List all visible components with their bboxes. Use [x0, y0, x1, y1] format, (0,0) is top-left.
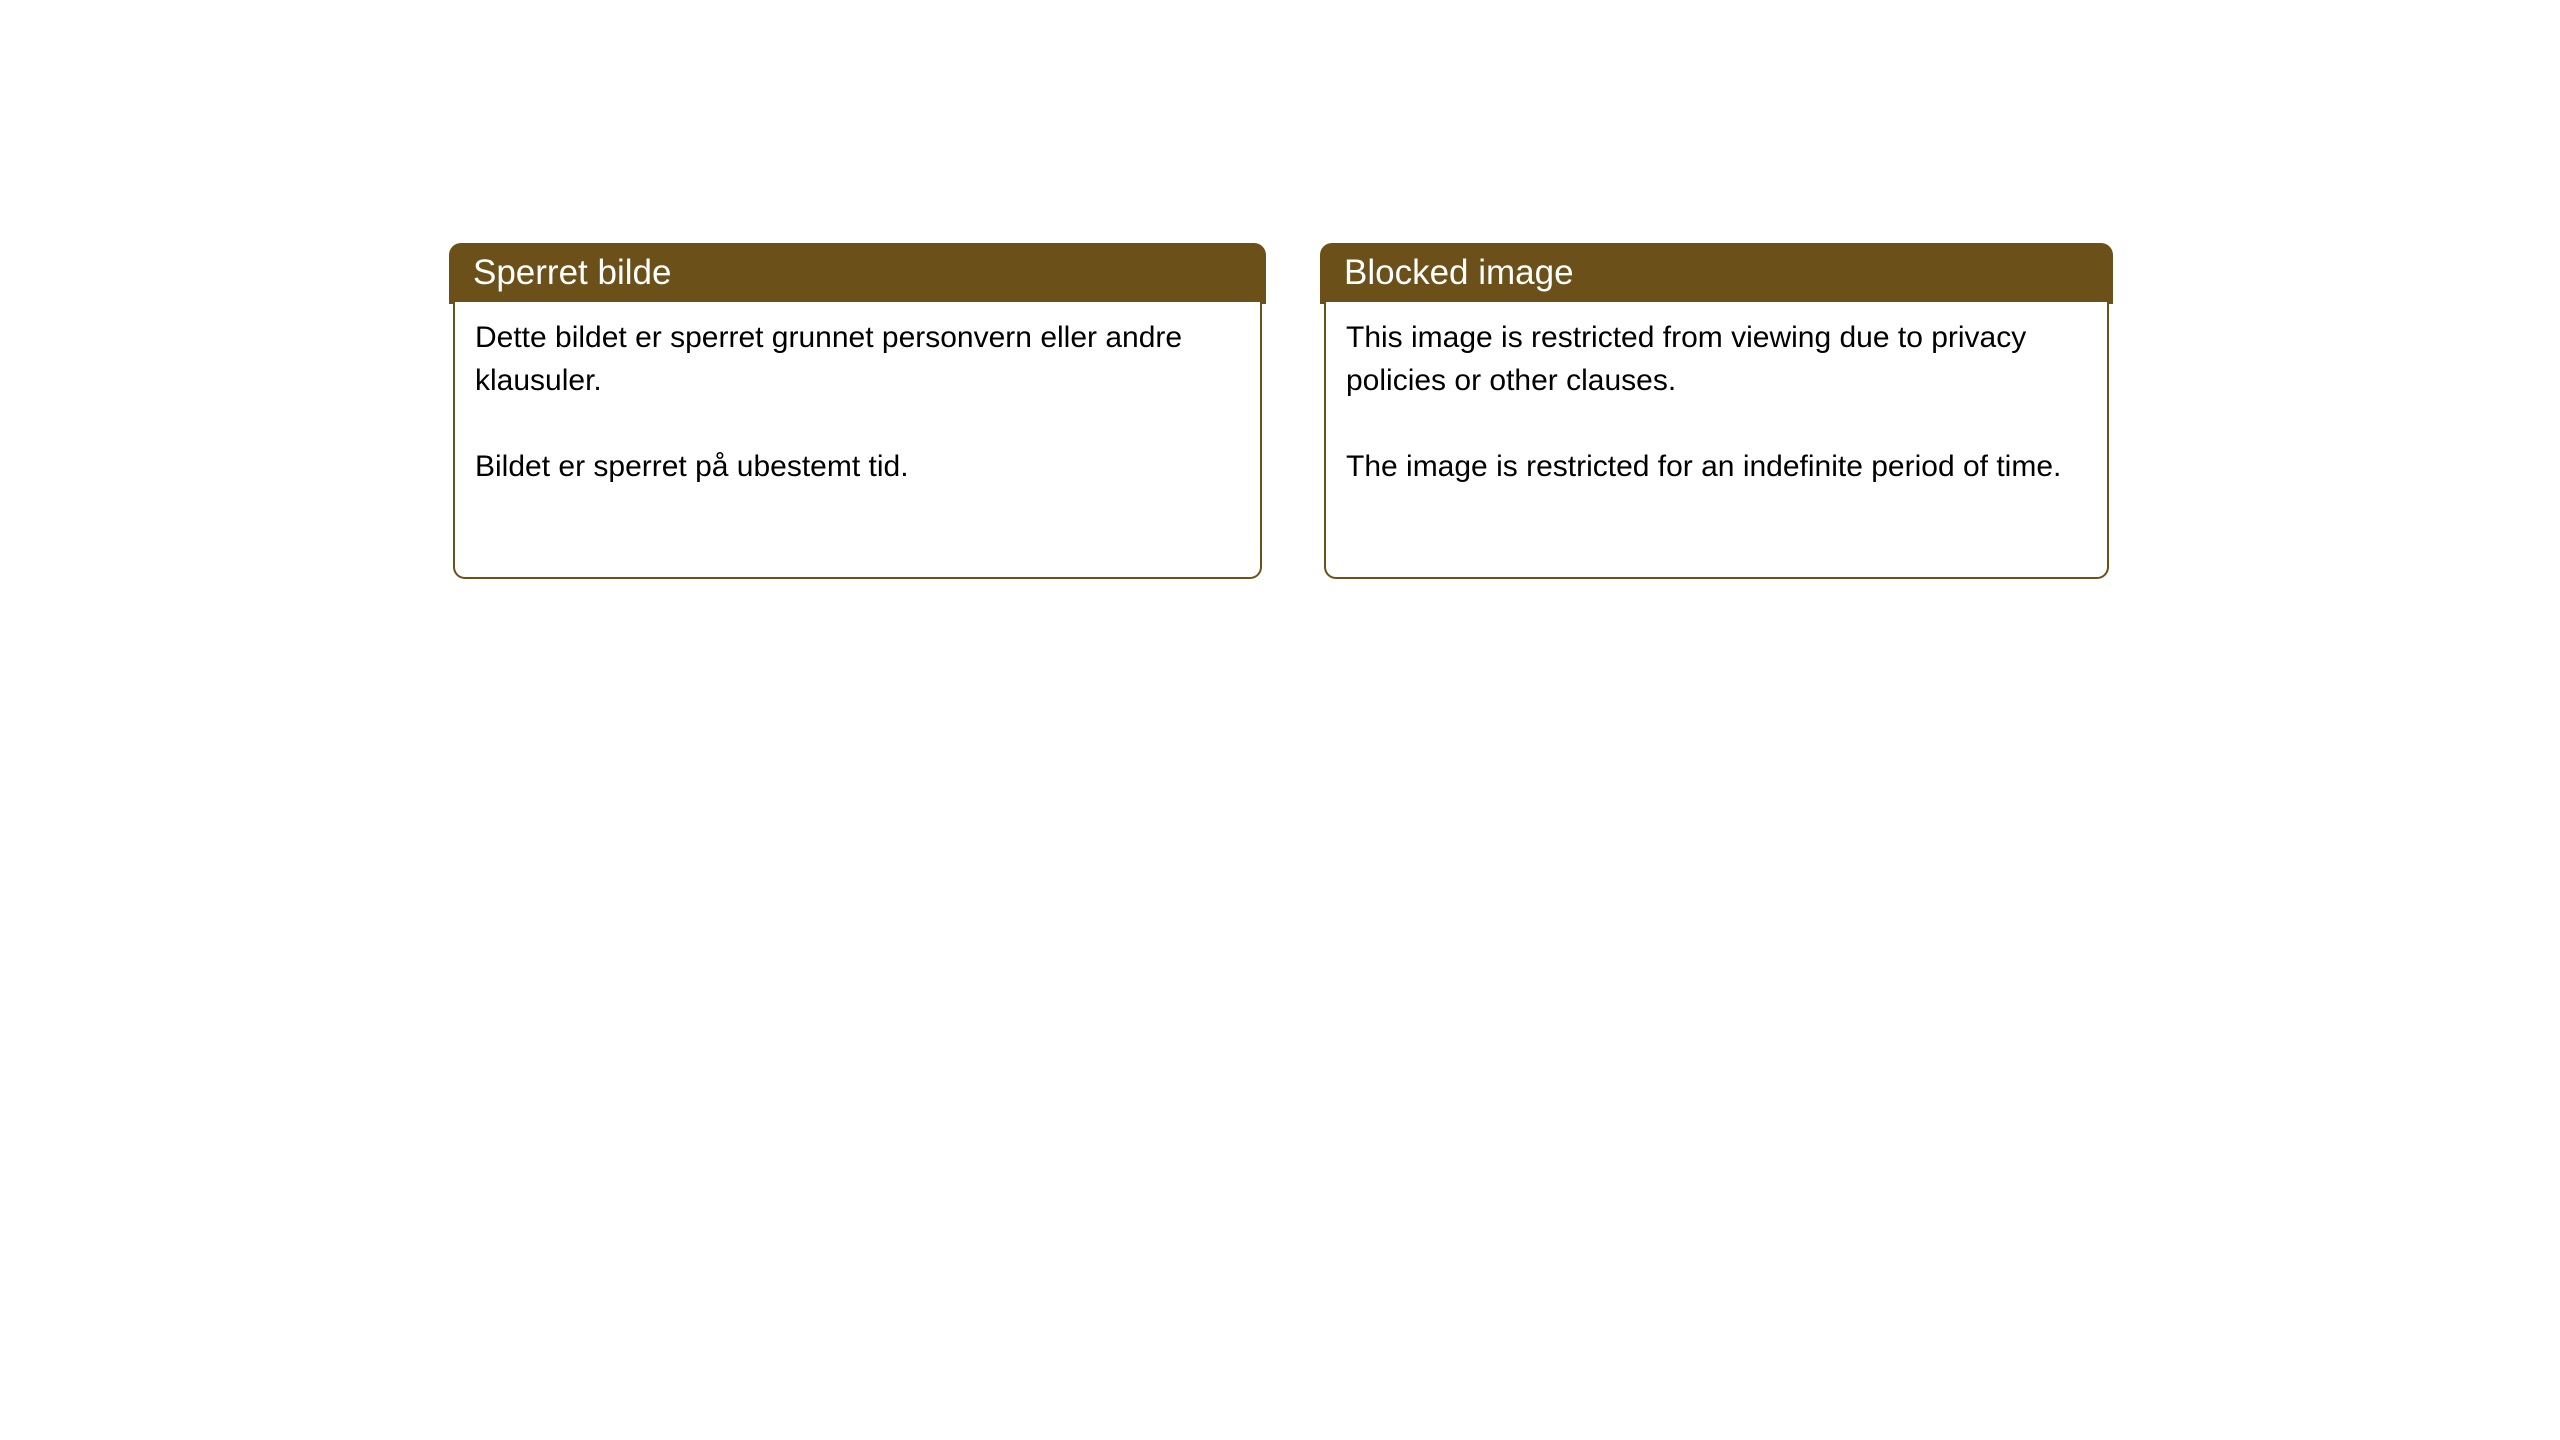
card-body: This image is restricted from viewing du… [1324, 302, 2109, 579]
card-title: Sperret bilde [473, 251, 671, 295]
card-paragraph-primary: Dette bildet er sperret grunnet personve… [475, 316, 1248, 402]
blocked-image-card-norwegian: Sperret bilde Dette bildet er sperret gr… [449, 243, 1266, 579]
card-title: Blocked image [1344, 251, 1574, 295]
blocked-image-notices: Sperret bilde Dette bildet er sperret gr… [0, 0, 2560, 1440]
card-body: Dette bildet er sperret grunnet personve… [453, 302, 1262, 579]
card-paragraph-secondary: Bildet er sperret på ubestemt tid. [475, 445, 1248, 488]
card-header-bar: Sperret bilde [449, 243, 1266, 304]
card-header-bar: Blocked image [1320, 243, 2113, 304]
paragraph-spacer [475, 402, 1248, 445]
paragraph-spacer [1346, 402, 2095, 445]
card-body-content: Dette bildet er sperret grunnet personve… [475, 316, 1248, 488]
blocked-image-card-english: Blocked image This image is restricted f… [1320, 243, 2113, 579]
card-body-content: This image is restricted from viewing du… [1346, 316, 2095, 488]
card-paragraph-primary: This image is restricted from viewing du… [1346, 316, 2095, 402]
card-paragraph-secondary: The image is restricted for an indefinit… [1346, 445, 2095, 488]
